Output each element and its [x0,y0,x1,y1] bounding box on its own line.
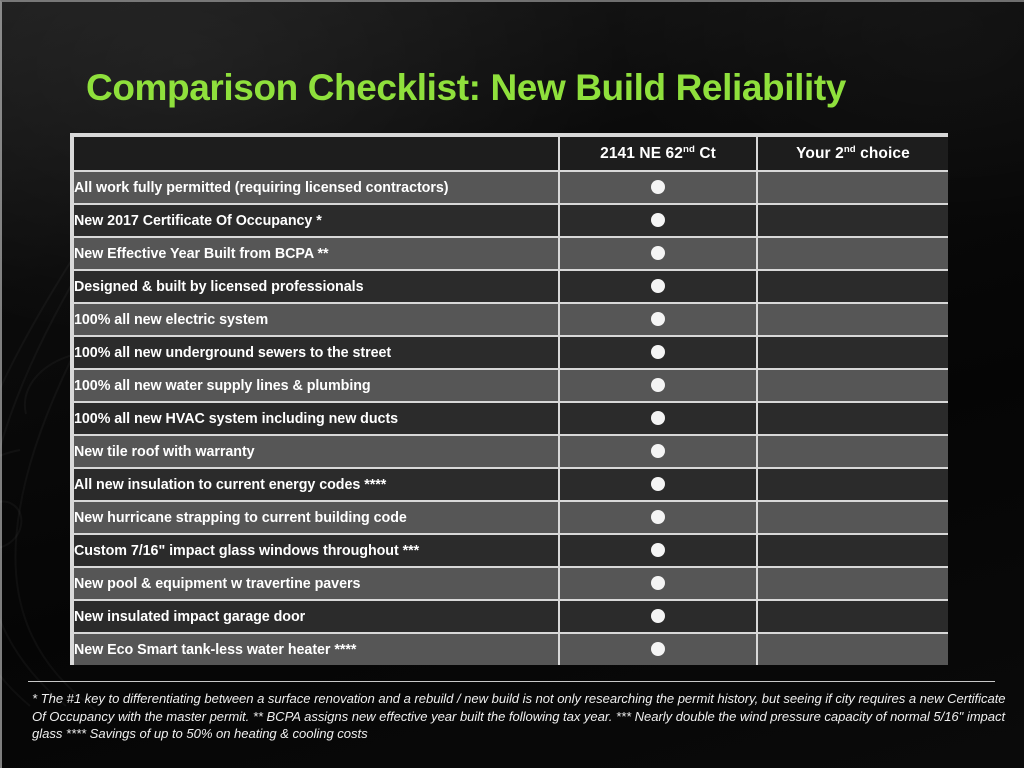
subject-property-cell [560,634,756,665]
feature-label: New Effective Year Built from BCPA ** [74,238,558,269]
comparison-table: 2141 NE 62nd Ct Your 2nd choice All work… [72,135,950,667]
column-header-subject-property: 2141 NE 62nd Ct [560,137,756,170]
table-row: All new insulation to current energy cod… [74,469,948,500]
table-row: New Eco Smart tank-less water heater ***… [74,634,948,665]
other-choice-cell[interactable] [758,172,948,203]
footer-divider [28,681,995,682]
column-header-subject-property-pre: 2141 NE 62 [600,145,683,162]
subject-property-cell [560,205,756,236]
check-dot-icon [651,378,665,392]
other-choice-cell[interactable] [758,535,948,566]
subject-property-cell [560,436,756,467]
subject-property-cell [560,568,756,599]
other-choice-cell[interactable] [758,568,948,599]
footnote-text: * The #1 key to differentiating between … [32,690,1007,743]
feature-label: New tile roof with warranty [74,436,558,467]
feature-label: 100% all new underground sewers to the s… [74,337,558,368]
other-choice-cell[interactable] [758,436,948,467]
column-header-other-choice-post: choice [856,145,910,162]
check-dot-icon [651,411,665,425]
column-header-other-choice: Your 2nd choice [758,137,948,170]
subject-property-cell [560,337,756,368]
check-dot-icon [651,510,665,524]
subject-property-cell [560,238,756,269]
table-row: New pool & equipment w travertine pavers [74,568,948,599]
table-row: New Effective Year Built from BCPA ** [74,238,948,269]
feature-label: New insulated impact garage door [74,601,558,632]
other-choice-cell[interactable] [758,205,948,236]
subject-property-cell [560,271,756,302]
column-header-subject-property-sup: nd [683,143,695,154]
table-row: New 2017 Certificate Of Occupancy * [74,205,948,236]
feature-label: 100% all new water supply lines & plumbi… [74,370,558,401]
subject-property-cell [560,502,756,533]
comparison-table-body: All work fully permitted (requiring lice… [74,172,948,665]
check-dot-icon [651,477,665,491]
check-dot-icon [651,642,665,656]
check-dot-icon [651,279,665,293]
comparison-table-container: 2141 NE 62nd Ct Your 2nd choice All work… [70,133,948,665]
table-row: New insulated impact garage door [74,601,948,632]
column-header-other-choice-sup: nd [844,143,856,154]
feature-label: New Eco Smart tank-less water heater ***… [74,634,558,665]
check-dot-icon [651,213,665,227]
subject-property-cell [560,370,756,401]
table-row: 100% all new underground sewers to the s… [74,337,948,368]
table-row: 100% all new electric system [74,304,948,335]
other-choice-cell[interactable] [758,304,948,335]
table-row: New hurricane strapping to current build… [74,502,948,533]
table-row: 100% all new HVAC system including new d… [74,403,948,434]
other-choice-cell[interactable] [758,238,948,269]
column-header-other-choice-pre: Your 2 [796,145,844,162]
table-row: All work fully permitted (requiring lice… [74,172,948,203]
feature-label: All new insulation to current energy cod… [74,469,558,500]
subject-property-cell [560,601,756,632]
feature-label: New hurricane strapping to current build… [74,502,558,533]
check-dot-icon [651,576,665,590]
other-choice-cell[interactable] [758,370,948,401]
table-header-row: 2141 NE 62nd Ct Your 2nd choice [74,137,948,170]
other-choice-cell[interactable] [758,634,948,665]
feature-label: Designed & built by licensed professiona… [74,271,558,302]
table-row: Designed & built by licensed professiona… [74,271,948,302]
subject-property-cell [560,172,756,203]
feature-label: New pool & equipment w travertine pavers [74,568,558,599]
check-dot-icon [651,180,665,194]
column-header-feature [74,137,558,170]
other-choice-cell[interactable] [758,337,948,368]
other-choice-cell[interactable] [758,403,948,434]
feature-label: New 2017 Certificate Of Occupancy * [74,205,558,236]
check-dot-icon [651,609,665,623]
table-row: 100% all new water supply lines & plumbi… [74,370,948,401]
other-choice-cell[interactable] [758,601,948,632]
page-title: Comparison Checklist: New Build Reliabil… [86,66,946,110]
table-row: Custom 7/16" impact glass windows throug… [74,535,948,566]
other-choice-cell[interactable] [758,469,948,500]
subject-property-cell [560,535,756,566]
feature-label: 100% all new HVAC system including new d… [74,403,558,434]
subject-property-cell [560,403,756,434]
slide: Comparison Checklist: New Build Reliabil… [0,0,1024,768]
other-choice-cell[interactable] [758,271,948,302]
feature-label: All work fully permitted (requiring lice… [74,172,558,203]
check-dot-icon [651,246,665,260]
feature-label: Custom 7/16" impact glass windows throug… [74,535,558,566]
subject-property-cell [560,469,756,500]
check-dot-icon [651,345,665,359]
feature-label: 100% all new electric system [74,304,558,335]
check-dot-icon [651,543,665,557]
subject-property-cell [560,304,756,335]
check-dot-icon [651,444,665,458]
column-header-subject-property-post: Ct [695,145,716,162]
other-choice-cell[interactable] [758,502,948,533]
check-dot-icon [651,312,665,326]
table-row: New tile roof with warranty [74,436,948,467]
